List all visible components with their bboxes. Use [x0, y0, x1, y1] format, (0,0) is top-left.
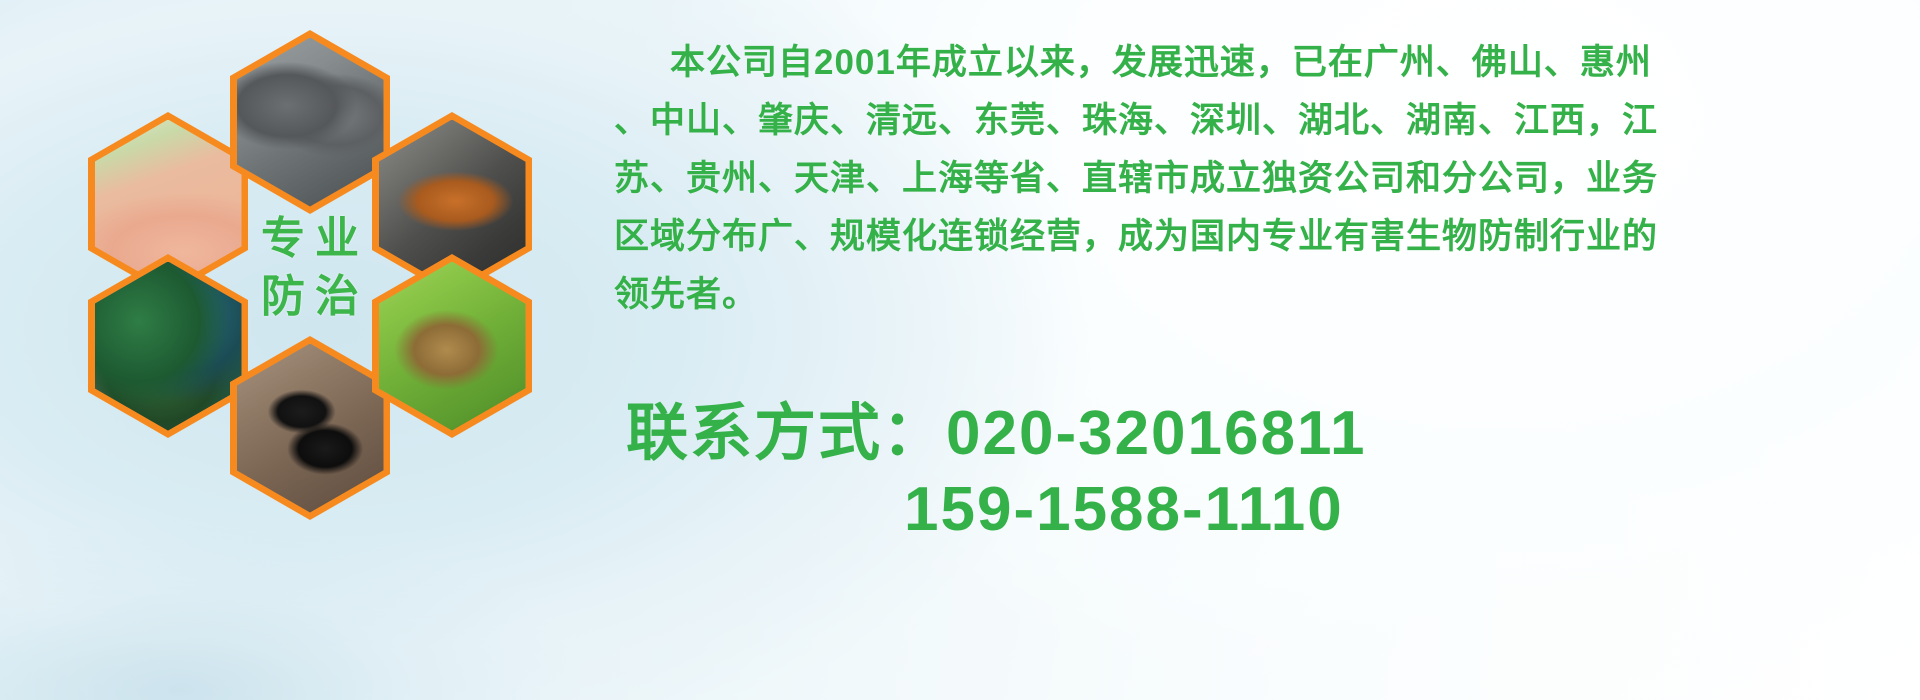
contact-block: 联系方式：020-32016811 159-1588-1110 [614, 396, 1904, 548]
company-intro-paragraph: 本公司自2001年成立以来，发展迅速，已在广州、佛山、惠州 、中山、肇庆、清远、… [614, 34, 1904, 324]
stink-bug-icon [379, 262, 526, 431]
hex-photo-collage: 专业 防治 [88, 8, 588, 568]
intro-line: 苏、贵州、天津、上海等省、直辖市成立独资公司和分公司，业务 [614, 150, 1904, 208]
fly-icon [95, 262, 242, 431]
hex-cell-stink-bug [372, 254, 532, 438]
intro-line: 、中山、肇庆、清远、东莞、珠海、深圳、湖北、湖南、江西，江 [614, 92, 1904, 150]
hex-cell-stink-bug-photo [379, 262, 526, 431]
banner-content: 本公司自2001年成立以来，发展迅速，已在广州、佛山、惠州 、中山、肇庆、清远、… [614, 0, 1920, 700]
intro-line: 领先者。 [614, 266, 1904, 324]
hex-label-line-1: 专业 [251, 213, 369, 265]
rat-icon [237, 38, 384, 207]
promo-banner: 专业 防治 本公司自2001年成立以来，发展迅速，已在广州、佛山、惠州 、中山、… [0, 0, 1920, 700]
ant-icon [237, 344, 384, 513]
hex-label-line-2: 防治 [251, 271, 369, 323]
contact-secondary-phone[interactable]: 159-1588-1110 [614, 472, 1904, 548]
hex-center-label: 专业 防治 [240, 188, 380, 348]
intro-line: 本公司自2001年成立以来，发展迅速，已在广州、佛山、惠州 [614, 34, 1904, 92]
hex-cell-ant-photo [237, 344, 384, 513]
hex-cell-flies-photo [95, 262, 242, 431]
hex-cell-rats [230, 30, 390, 214]
intro-line: 区域分布广、规模化连锁经营，成为国内专业有害生物防制行业的 [614, 208, 1904, 266]
hex-cell-flies [88, 254, 248, 438]
contact-primary-phone[interactable]: 联系方式：020-32016811 [614, 396, 1904, 472]
hex-cell-ant [230, 336, 390, 520]
hex-cell-rats-photo [237, 38, 384, 207]
